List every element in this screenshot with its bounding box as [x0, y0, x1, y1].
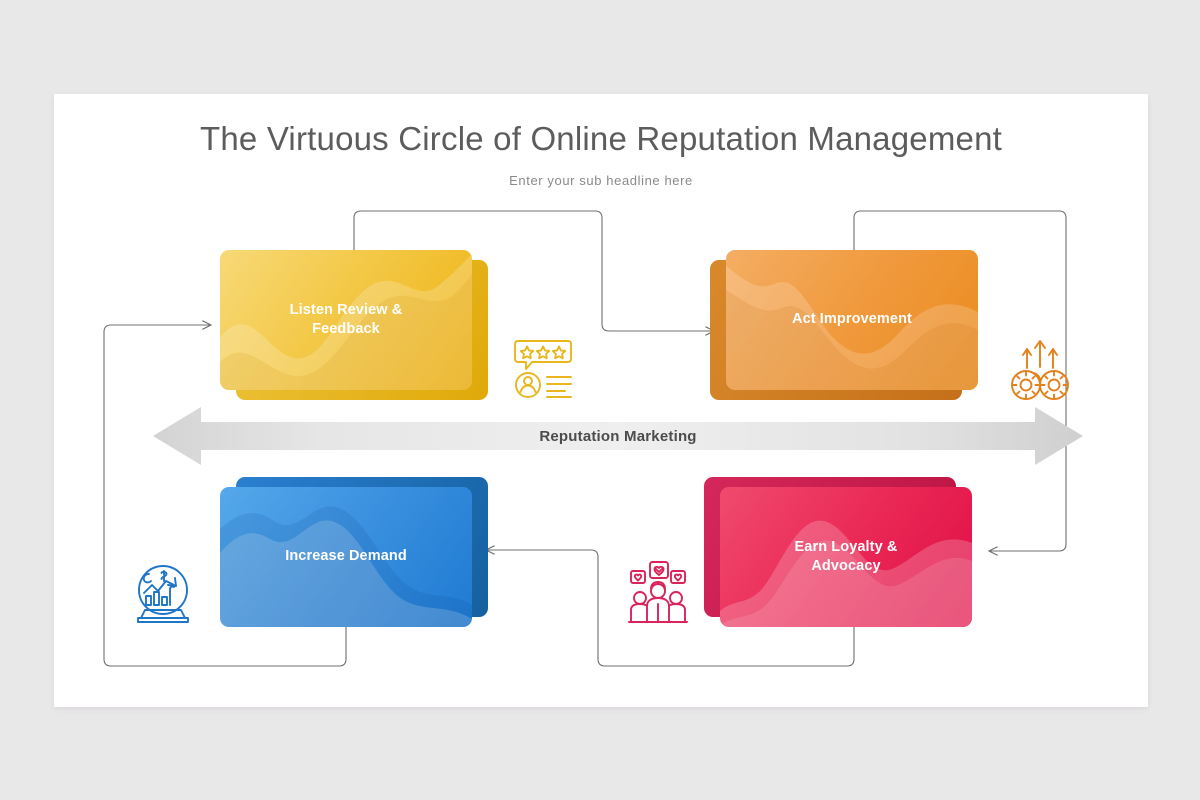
card-label: Listen Review & Feedback	[220, 250, 472, 390]
card-act-improvement[interactable]: Act Improvement	[710, 250, 978, 400]
slide-canvas: The Virtuous Circle of Online Reputation…	[54, 94, 1148, 707]
reputation-marketing-banner: Reputation Marketing	[153, 405, 1083, 467]
people-hearts-icon	[625, 560, 691, 626]
gears-growth-icon	[1007, 337, 1073, 403]
crystal-ball-growth-icon	[130, 560, 196, 626]
card-label: Act Improvement	[726, 250, 978, 390]
slide-stage: The Virtuous Circle of Online Reputation…	[0, 0, 1200, 800]
page-title: The Virtuous Circle of Online Reputation…	[54, 120, 1148, 158]
card-label: Earn Loyalty & Advocacy	[720, 487, 972, 627]
card-listen-review-feedback[interactable]: Listen Review & Feedback	[220, 250, 488, 400]
review-stars-icon	[510, 335, 576, 401]
card-increase-demand[interactable]: Increase Demand	[220, 477, 488, 627]
page-subtitle: Enter your sub headline here	[54, 173, 1148, 188]
banner-label: Reputation Marketing	[153, 405, 1083, 467]
card-label: Increase Demand	[220, 487, 472, 627]
card-earn-loyalty-advocacy[interactable]: Earn Loyalty & Advocacy	[704, 477, 972, 627]
